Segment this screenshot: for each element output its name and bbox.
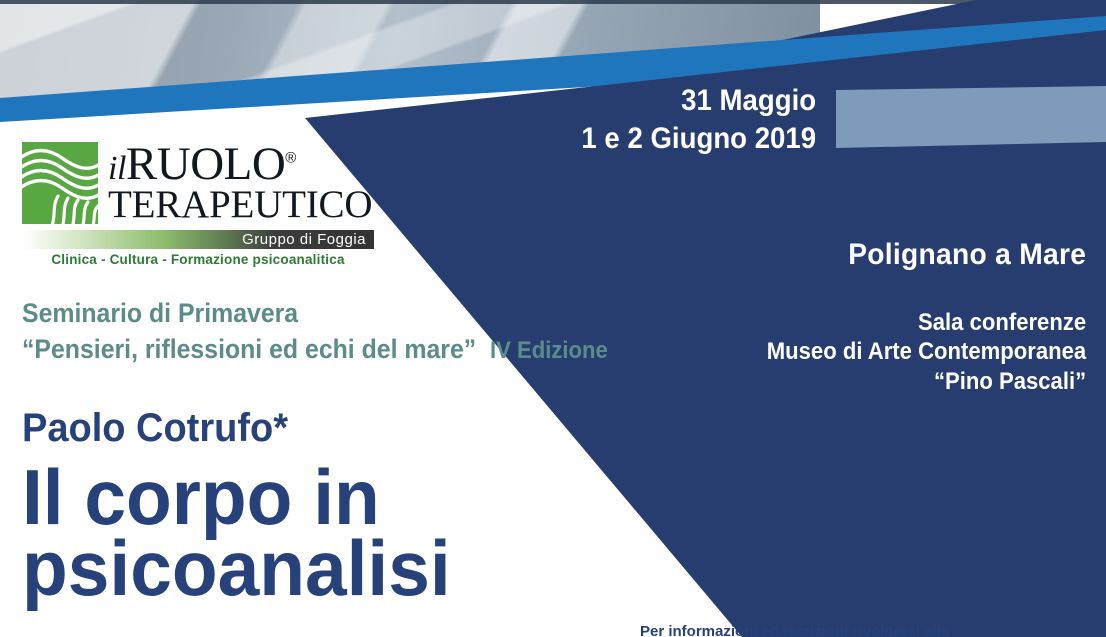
wavy-lines-icon xyxy=(22,142,98,224)
venue-line-three: “Pino Pascali” xyxy=(767,367,1086,396)
registered-trademark-icon: ® xyxy=(285,149,296,166)
footer-info-clipped: Per informazioni ed iscrizioni rivolgers… xyxy=(640,624,1106,637)
logo-line-one: ilRUOLO® xyxy=(108,142,374,187)
date-line-two: 1 e 2 Giugno 2019 xyxy=(581,120,816,158)
logo-tagline: Clinica - Cultura - Formazione psicoanal… xyxy=(22,252,374,267)
seminar-line-two-wrap: “Pensieri, riflessioni ed echi del mare”… xyxy=(22,332,608,368)
event-dates: 31 Maggio 1 e 2 Giugno 2019 xyxy=(581,82,816,157)
seminar-line-one: Seminario di Primavera xyxy=(22,296,608,332)
page-title: Il corpo in psicoanalisi xyxy=(22,460,451,602)
venue-line-two: Museo di Arte Contemporanea xyxy=(767,337,1086,366)
logo-top-row: ilRUOLO® TERAPEUTICO xyxy=(22,142,374,224)
title-line-two: psicoanalisi xyxy=(22,531,451,606)
event-city: Polignano a Mare xyxy=(848,238,1086,271)
logo-group-bar: Gruppo di Foggia xyxy=(22,230,374,249)
event-venue: Sala conferenze Museo di Arte Contempora… xyxy=(767,308,1086,396)
steel-blue-parallelogram xyxy=(836,86,1106,152)
seminar-edition: IV Edizione xyxy=(490,337,608,364)
organization-logo: ilRUOLO® TERAPEUTICO Gruppo di Foggia Cl… xyxy=(22,142,374,267)
logo-group-label: Gruppo di Foggia xyxy=(242,231,374,248)
venue-line-one: Sala conferenze xyxy=(767,308,1086,337)
logo-line-two: TERAPEUTICO xyxy=(108,185,374,224)
logo-il: il xyxy=(108,150,126,187)
date-line-one: 31 Maggio xyxy=(581,82,816,120)
logo-wordmark: ilRUOLO® TERAPEUTICO xyxy=(108,142,374,224)
footer-info-text: Per informazioni ed iscrizioni rivolgers… xyxy=(640,624,949,637)
speaker-name: Paolo Cotrufo* xyxy=(22,408,288,448)
event-poster: ilRUOLO® TERAPEUTICO Gruppo di Foggia Cl… xyxy=(0,0,1106,637)
seminar-heading: Seminario di Primavera “Pensieri, rifles… xyxy=(22,296,608,367)
photo-top-edge xyxy=(0,0,1106,4)
seminar-subtitle: “Pensieri, riflessioni ed echi del mare” xyxy=(22,334,476,364)
